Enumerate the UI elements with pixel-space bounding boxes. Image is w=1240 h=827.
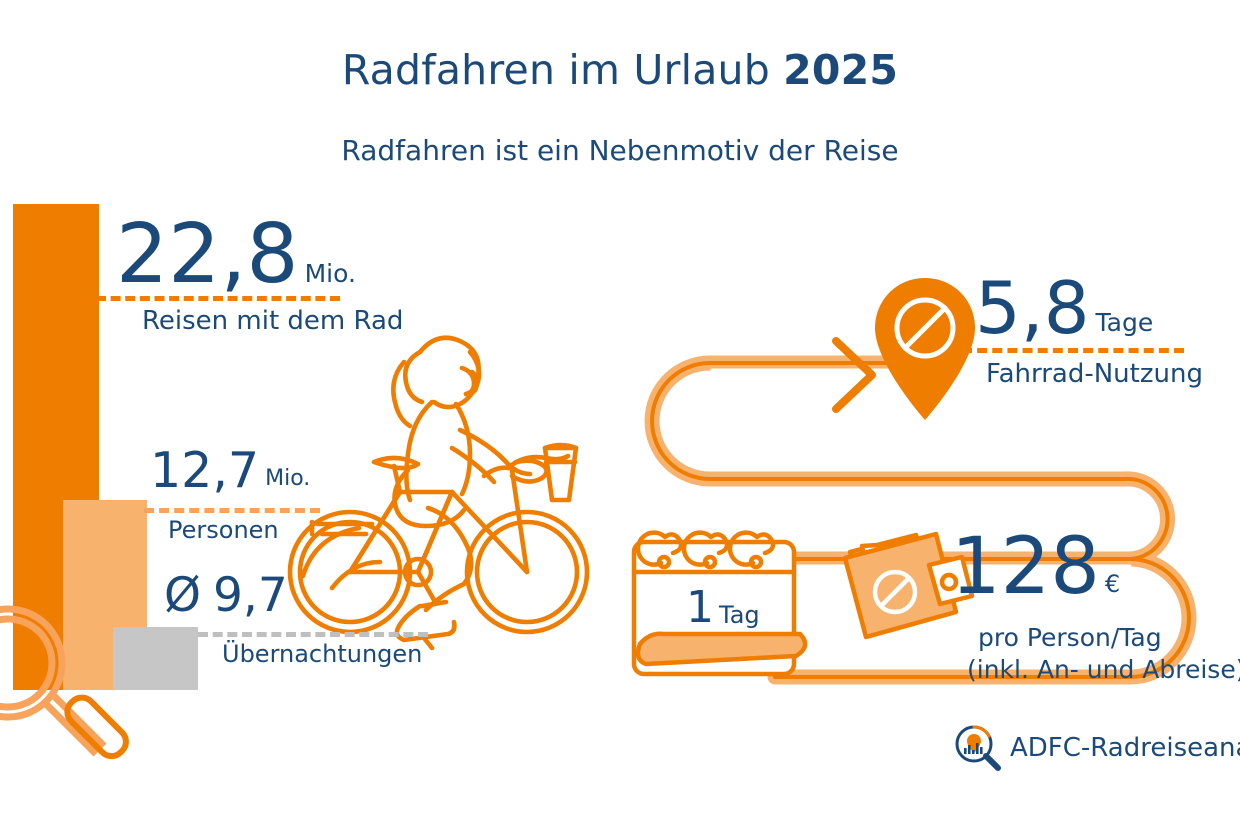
page-title: Radfahren im Urlaub 2025 xyxy=(0,46,1240,94)
stat-trips-value-row: 22,8 Mio. xyxy=(116,214,356,296)
divider-overnights xyxy=(198,632,428,637)
stat-calendar-value: 1 xyxy=(686,586,714,630)
stat-spending-caption-line2: (inkl. An- und Abreise) xyxy=(967,656,1240,684)
page-subtitle: Radfahren ist ein Nebenmotiv der Reise xyxy=(0,134,1240,167)
infographic-canvas: Radfahren im Urlaub 2025 Radfahren ist e… xyxy=(0,0,1240,827)
stat-persons-value: 12,7 xyxy=(150,446,259,495)
stat-calendar-value-row: 1 Tag xyxy=(686,586,760,630)
right-illustration-layer xyxy=(0,0,1240,827)
stat-overnights-caption: Übernachtungen xyxy=(222,641,422,668)
stat-trips-caption: Reisen mit dem Rad xyxy=(142,307,403,336)
stat-spending-value-row: 128 € xyxy=(951,528,1120,606)
stat-bike-usage-unit: Tage xyxy=(1096,310,1154,335)
stat-calendar: 1 Tag xyxy=(686,586,760,630)
page-title-main: Radfahren im Urlaub xyxy=(342,46,783,94)
stat-persons-value-row: 12,7 Mio. xyxy=(150,446,310,495)
stat-spending-value: 128 xyxy=(951,528,1100,606)
stat-trips-unit: Mio. xyxy=(305,261,356,286)
map-pin-icon xyxy=(875,278,975,420)
divider-bike-usage xyxy=(962,348,1184,353)
magnifier-chart-pin-logo-icon xyxy=(952,722,1004,774)
page-title-year: 2025 xyxy=(783,46,898,94)
stat-bike-usage-value: 5,8 xyxy=(975,272,1090,344)
stat-overnights: Ø 9,7 xyxy=(164,572,288,619)
adfc-logo[interactable]: ADFC-Radreiseanalyse xyxy=(952,722,1240,774)
stat-calendar-unit: Tag xyxy=(719,603,760,627)
stat-trips: 22,8 Mio. xyxy=(116,214,356,296)
stat-overnights-avg-symbol: Ø xyxy=(164,572,201,619)
bar-overnights xyxy=(113,627,198,690)
stat-bike-usage-caption: Fahrrad-Nutzung xyxy=(986,360,1203,389)
stat-overnights-value-row: Ø 9,7 xyxy=(164,572,288,619)
divider-persons xyxy=(144,508,320,513)
stat-spending-unit: € xyxy=(1105,572,1120,596)
stat-overnights-value: 9,7 xyxy=(213,572,288,619)
stat-spending: 128 € xyxy=(951,528,1120,606)
stat-persons-caption: Personen xyxy=(168,517,279,544)
stat-trips-value: 22,8 xyxy=(116,214,299,296)
adfc-logo-text: ADFC-Radreiseanalyse xyxy=(1010,733,1240,763)
left-illustration-layer xyxy=(0,0,1240,827)
stat-bike-usage: 5,8 Tage xyxy=(975,272,1153,344)
divider-trips xyxy=(96,296,340,301)
stat-spending-caption-line1: pro Person/Tag xyxy=(978,624,1162,652)
cyclist-icon xyxy=(290,338,587,648)
stat-bike-usage-value-row: 5,8 Tage xyxy=(975,272,1153,344)
stat-persons-unit: Mio. xyxy=(265,468,310,490)
stat-persons: 12,7 Mio. xyxy=(150,446,310,495)
